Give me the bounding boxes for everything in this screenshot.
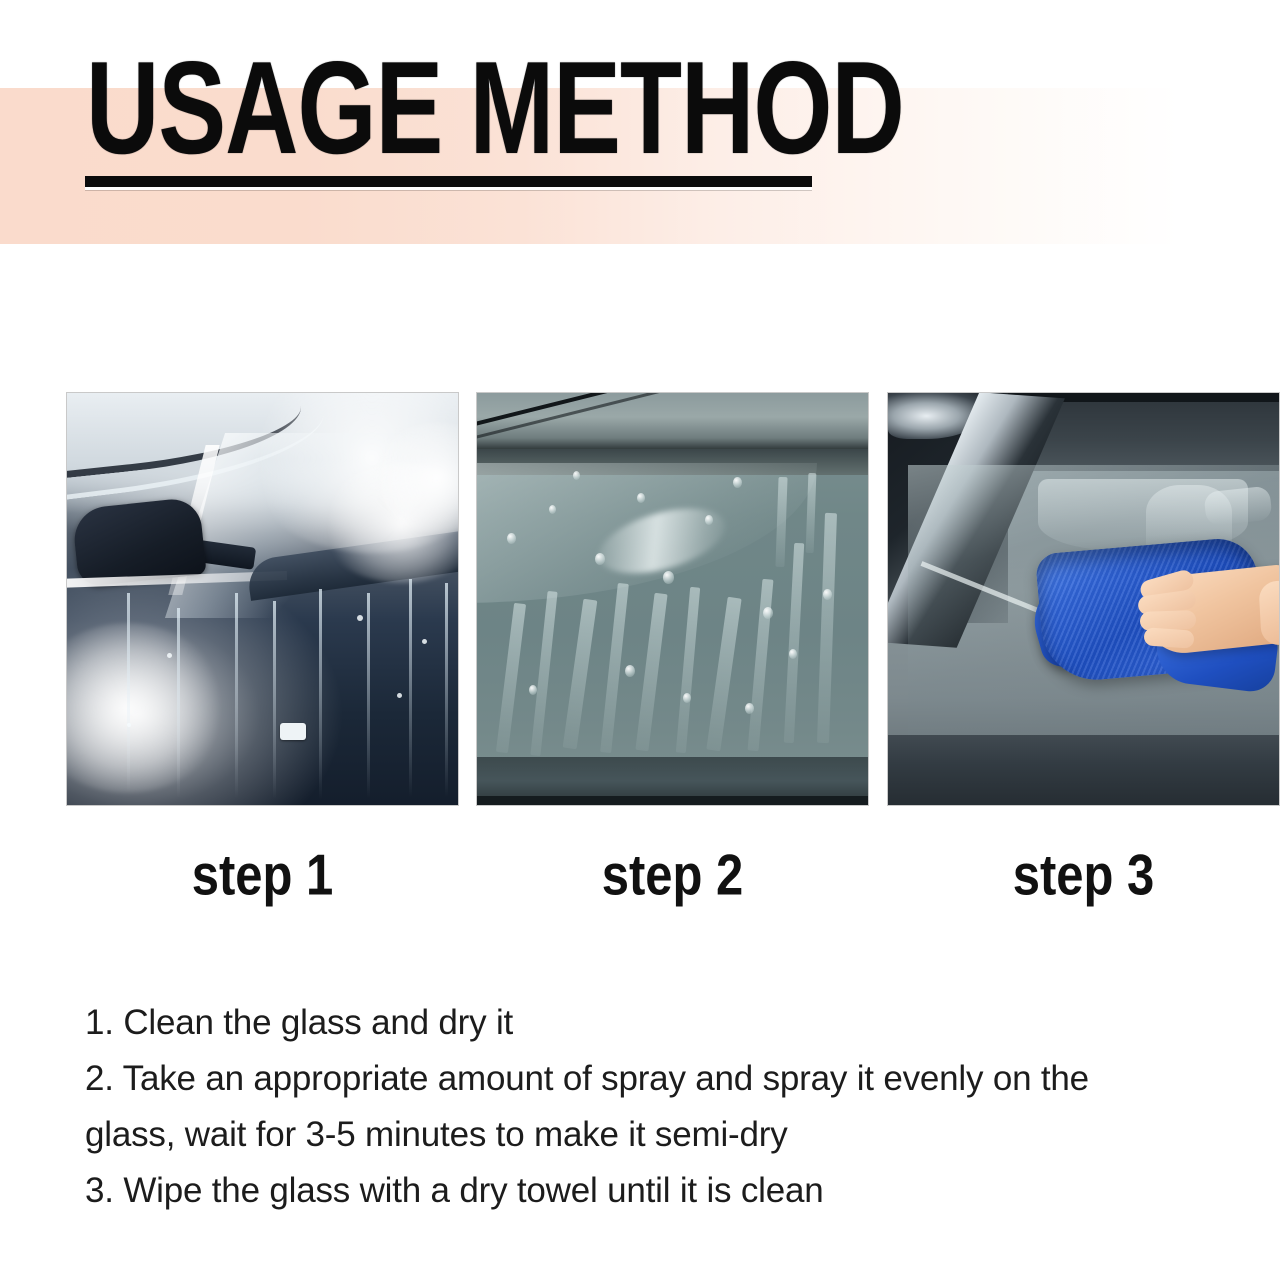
water-streak bbox=[273, 601, 276, 799]
water-droplet bbox=[167, 653, 172, 658]
instruction-line-2b: glass, wait for 3-5 minutes to make it s… bbox=[85, 1107, 1275, 1163]
step-3-card bbox=[888, 393, 1279, 805]
water-runnel bbox=[676, 587, 700, 753]
water-bead bbox=[549, 505, 556, 514]
step-2-photo bbox=[477, 393, 868, 805]
water-bead bbox=[573, 471, 580, 480]
step-2-label: step 2 bbox=[477, 840, 868, 911]
water-bead bbox=[663, 571, 674, 584]
water-runnel bbox=[496, 603, 526, 753]
water-bead bbox=[507, 533, 516, 544]
hood-edge-line bbox=[477, 796, 868, 805]
finger bbox=[1143, 627, 1194, 648]
step-3-label: step 3 bbox=[888, 840, 1279, 911]
water-bead bbox=[763, 607, 773, 619]
step-1-label: step 1 bbox=[67, 840, 458, 911]
water-streak bbox=[235, 593, 238, 798]
water-bead bbox=[625, 665, 635, 677]
water-droplet bbox=[127, 723, 131, 727]
water-streak bbox=[319, 589, 322, 799]
water-spray-mist bbox=[67, 623, 227, 793]
instruction-line-1: 1. Clean the glass and dry it bbox=[85, 995, 1275, 1051]
water-droplet bbox=[357, 615, 363, 621]
water-bead bbox=[733, 477, 742, 488]
water-streak bbox=[445, 583, 448, 797]
water-runnel bbox=[806, 473, 817, 553]
water-bead bbox=[745, 703, 754, 714]
water-runnel bbox=[784, 543, 804, 743]
water-droplet bbox=[422, 639, 427, 644]
hood-cowl-band bbox=[888, 735, 1279, 805]
water-runnel bbox=[706, 597, 741, 751]
water-runnel bbox=[748, 579, 774, 751]
step-1-card bbox=[67, 393, 458, 805]
water-runnel bbox=[775, 477, 787, 567]
water-bead bbox=[705, 515, 713, 525]
water-bead bbox=[595, 553, 605, 565]
water-streak bbox=[409, 579, 412, 797]
water-runnel bbox=[563, 599, 598, 749]
water-streak bbox=[127, 593, 130, 793]
instructions-block: 1. Clean the glass and dry it 2. Take an… bbox=[85, 995, 1275, 1219]
water-runnel bbox=[817, 513, 837, 743]
water-runnel bbox=[635, 593, 667, 751]
steps-gallery bbox=[0, 393, 1280, 813]
title-underline-rule bbox=[85, 176, 812, 187]
water-droplet bbox=[397, 693, 402, 698]
water-streak bbox=[177, 608, 180, 798]
instruction-line-3: 3. Wipe the glass with a dry towel until… bbox=[85, 1163, 1275, 1219]
water-bead bbox=[529, 685, 537, 695]
water-bead bbox=[637, 493, 645, 503]
water-streak bbox=[367, 593, 370, 798]
step-3-photo bbox=[888, 393, 1279, 805]
header: USAGE METHOD bbox=[0, 0, 1280, 260]
step-1-photo bbox=[67, 393, 458, 805]
water-bead bbox=[683, 693, 691, 703]
page-title: USAGE METHOD bbox=[86, 42, 904, 174]
step-2-card bbox=[477, 393, 868, 805]
water-bead bbox=[823, 589, 832, 600]
water-bead bbox=[789, 649, 797, 659]
water-runnel bbox=[530, 591, 557, 756]
instruction-line-2a: 2. Take an appropriate amount of spray a… bbox=[85, 1051, 1275, 1107]
door-badge bbox=[280, 723, 306, 740]
